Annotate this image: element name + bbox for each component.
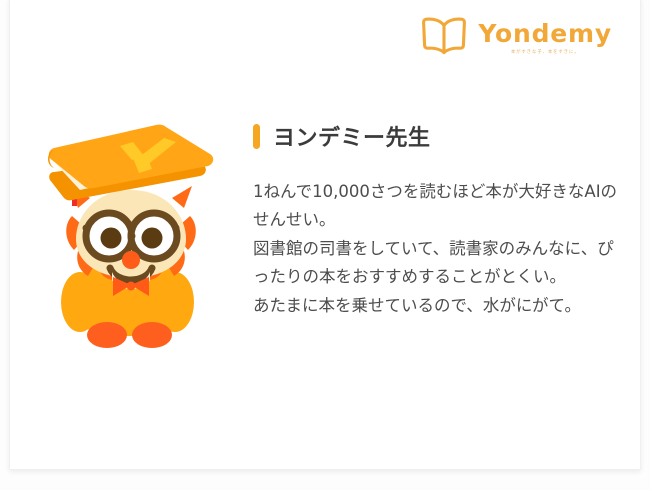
description-paragraph: あたまに本を乗せているので、水がにがて。 <box>253 292 625 320</box>
title-accent-bar <box>253 124 260 149</box>
open-book-icon <box>419 14 469 61</box>
logo-text-block: Yondemy 本がすきな子、本をすきに。 <box>478 21 612 54</box>
content-column: ヨンデミー先生 1ねんで10,000さつを読むほど本が大好きなAIのせんせい。 … <box>253 120 625 320</box>
description-paragraph: 1ねんで10,000さつを読むほど本が大好きなAIのせんせい。 <box>253 178 625 235</box>
profile-card: Yondemy 本がすきな子、本をすきに。 <box>9 0 641 470</box>
page-background: Yondemy 本がすきな子、本をすきに。 <box>0 0 650 490</box>
description-block: 1ねんで10,000さつを読むほど本が大好きなAIのせんせい。 図書館の司書をし… <box>253 178 625 320</box>
page-title-label: ヨンデミー先生 <box>273 120 431 152</box>
logo-wordmark: Yondemy <box>478 21 612 46</box>
yondemy-logo[interactable]: Yondemy 本がすきな子、本をすきに。 <box>419 14 612 61</box>
owl-beak <box>122 251 140 269</box>
logo-tagline: 本がすきな子、本をすきに。 <box>511 50 580 54</box>
yondemy-sensei-owl-illustration <box>34 120 230 360</box>
page-title: ヨンデミー先生 <box>253 120 625 152</box>
description-paragraph: 図書館の司書をしていて、読書家のみんなに、ぴったりの本をおすすめすることがとくい… <box>253 235 625 292</box>
